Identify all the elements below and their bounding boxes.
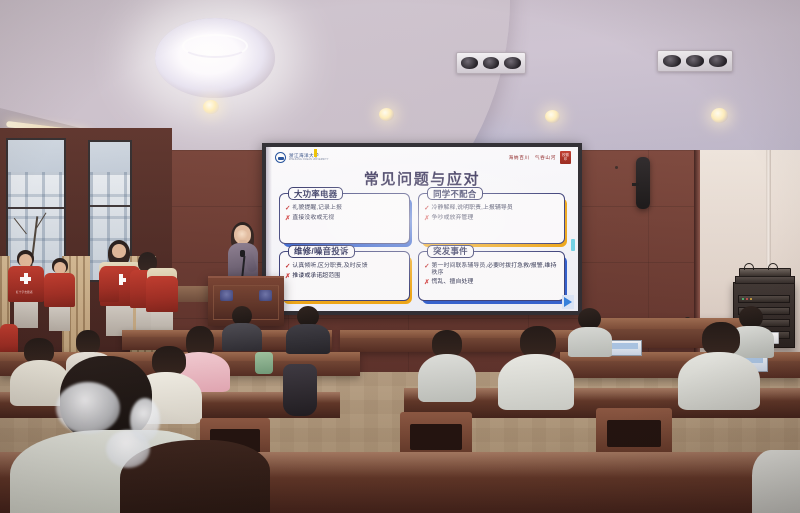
box-point: ✗ 推诿或承诺超范围	[285, 273, 404, 281]
gray-hoodie	[678, 352, 760, 410]
check-icon: ✓	[424, 263, 429, 278]
lecture-room-photo: 浙江海洋大学 ZHEJIANG OCEAN UNIVERSITY 海纳百川 气吞…	[0, 0, 800, 513]
volunteer	[43, 258, 77, 328]
university-name: 浙江海洋大学	[289, 154, 329, 159]
box-body: ✓ 第一时间联系辅导员,必要时拨打急救/报警,维持秩序 ✗ 慌乱、擅自处理	[418, 251, 565, 302]
audience-person	[568, 308, 612, 356]
red-cross-vest	[8, 266, 44, 302]
hair	[702, 322, 740, 356]
box-point-text: 推诿或承诺超范围	[292, 273, 340, 281]
box-heading: 同学不配合	[427, 187, 482, 200]
audience-person	[222, 306, 262, 350]
vest-text: 红十字志愿者	[16, 290, 33, 294]
check-icon: ✓	[285, 263, 290, 271]
audience-person	[418, 330, 476, 396]
box-point: ✓ 礼貌提醒,记录上报	[285, 205, 404, 213]
cross-icon: ✗	[424, 215, 429, 223]
motto-phrase-1: 海纳百川	[509, 155, 530, 161]
slide-logo: 浙江海洋大学 ZHEJIANG OCEAN UNIVERSITY	[275, 152, 329, 163]
dome-ceiling-light-icon	[155, 18, 275, 98]
cross-icon: ✗	[285, 215, 290, 223]
dome-light-ring	[182, 34, 248, 58]
downlight-icon	[545, 110, 560, 123]
box-point: ✗ 直接没收或无视	[285, 215, 404, 223]
audience-person	[286, 306, 330, 354]
box-heading: 突发事件	[427, 245, 474, 258]
play-triangle-icon	[564, 297, 572, 307]
box-heading: 大功率电器	[288, 187, 343, 200]
slide-box: ✓ 第一时间联系辅导员,必要时拨打急救/报警,维持秩序 ✗ 慌乱、擅自处理 突发…	[418, 251, 565, 302]
presentation-slide: 浙江海洋大学 ZHEJIANG OCEAN UNIVERSITY 海纳百川 气吞…	[266, 147, 578, 311]
presenter-face	[236, 230, 248, 240]
podium-emblem	[259, 290, 272, 301]
motto-phrase-2: 气吞山河	[535, 155, 556, 161]
box-point-text: 慌乱、擅自处理	[431, 279, 473, 287]
box-point-text: 第一时间联系辅导员,必要时拨打急救/报警,维持秩序	[431, 263, 559, 278]
volunteer	[144, 258, 180, 332]
cross-icon: ✗	[424, 279, 429, 287]
foreground-blur	[56, 382, 120, 434]
check-icon: ✓	[285, 205, 290, 213]
box-point: ✓ 冷静解释,说明职责,上报辅导员	[424, 205, 559, 213]
gray-hoodie	[498, 354, 574, 410]
backpack	[283, 364, 317, 416]
box-point-text: 直接没收或无视	[292, 215, 334, 223]
cross-icon: ✗	[285, 273, 290, 281]
rack-unit	[738, 295, 790, 303]
slide-box-grid: ✓ 礼貌提醒,记录上报 ✗ 直接没收或无视 大功率电器 ✓	[279, 193, 565, 301]
box-body: ✓ 礼貌提醒,记录上报 ✗ 直接没收或无视	[279, 193, 410, 244]
podium-emblem	[220, 290, 233, 301]
box-heading: 维修/噪音投诉	[288, 245, 355, 258]
red-cross-icon	[20, 273, 31, 284]
rack-top-unit	[735, 276, 795, 284]
box-point-text: 礼貌提醒,记录上报	[292, 205, 342, 213]
red-cross-vest	[44, 273, 75, 307]
university-name-english: ZHEJIANG OCEAN UNIVERSITY	[289, 159, 329, 161]
volunteer	[99, 252, 121, 328]
slide-marker-dot	[314, 149, 317, 157]
shoulders	[568, 327, 612, 357]
hair	[76, 330, 100, 354]
red-cross-vest	[99, 268, 119, 302]
box-point: ✗ 争吵或放弃管理	[424, 215, 559, 223]
projection-screen: 浙江海洋大学 ZHEJIANG OCEAN UNIVERSITY 海纳百川 气吞…	[262, 143, 582, 315]
box-point: ✓ 第一时间联系辅导员,必要时拨打急救/报警,维持秩序	[424, 263, 559, 278]
shoulders	[752, 450, 800, 513]
slide-title: 常见问题与应对	[266, 168, 578, 189]
slide-box: ✓ 冷静解释,说明职责,上报辅导员 ✗ 争吵或放弃管理 同学不配合	[418, 193, 565, 244]
box-body: ✓ 认真倾听,区分职责,及时反馈 ✗ 推诿或承诺超范围	[279, 251, 410, 302]
foreground-blur	[130, 398, 160, 442]
box-point-text: 认真倾听,区分职责,及时反馈	[292, 263, 367, 271]
box-point: ✗ 慌乱、擅自处理	[424, 279, 559, 287]
water-bottle	[255, 352, 273, 374]
cable-loop	[768, 263, 778, 270]
downlight-icon	[711, 108, 728, 123]
spotlight-fixture-icon	[456, 52, 526, 74]
volunteer: 红十字志愿者	[6, 250, 46, 326]
box-point: ✓ 认真倾听,区分职责,及时反馈	[285, 263, 404, 271]
chair-back	[596, 408, 672, 456]
seal-stamp-icon: 校徽印	[560, 151, 571, 164]
wall-fixture-dot	[615, 166, 618, 169]
audience-person	[678, 322, 760, 402]
gray-hoodie	[418, 354, 476, 402]
spotlight-fixture-icon	[657, 50, 733, 72]
cable-loop	[744, 263, 754, 270]
university-emblem-icon	[275, 152, 286, 163]
slide-box: ✓ 礼貌提醒,记录上报 ✗ 直接没收或无视 大功率电器	[279, 193, 410, 244]
box-point-text: 冷静解释,说明职责,上报辅导员	[431, 205, 512, 213]
box-body: ✓ 冷静解释,说明职责,上报辅导员 ✗ 争吵或放弃管理	[418, 193, 565, 244]
legs	[49, 307, 70, 331]
slide-motto: 海纳百川 气吞山河	[509, 155, 556, 161]
slide-side-marker	[571, 239, 575, 251]
shoulders	[286, 324, 330, 354]
slide-box: ✓ 认真倾听,区分职责,及时反馈 ✗ 推诿或承诺超范围 维修/噪音投诉	[279, 251, 410, 302]
downlight-icon	[379, 108, 394, 121]
check-icon: ✓	[424, 205, 429, 213]
shoulders	[222, 323, 262, 351]
red-cross-vest	[146, 276, 178, 312]
speaker-bracket	[632, 183, 639, 186]
audience-person-foreground	[752, 450, 800, 513]
box-point-text: 争吵或放弃管理	[431, 215, 473, 223]
downlight-icon	[203, 100, 219, 114]
audience-person	[498, 326, 574, 402]
